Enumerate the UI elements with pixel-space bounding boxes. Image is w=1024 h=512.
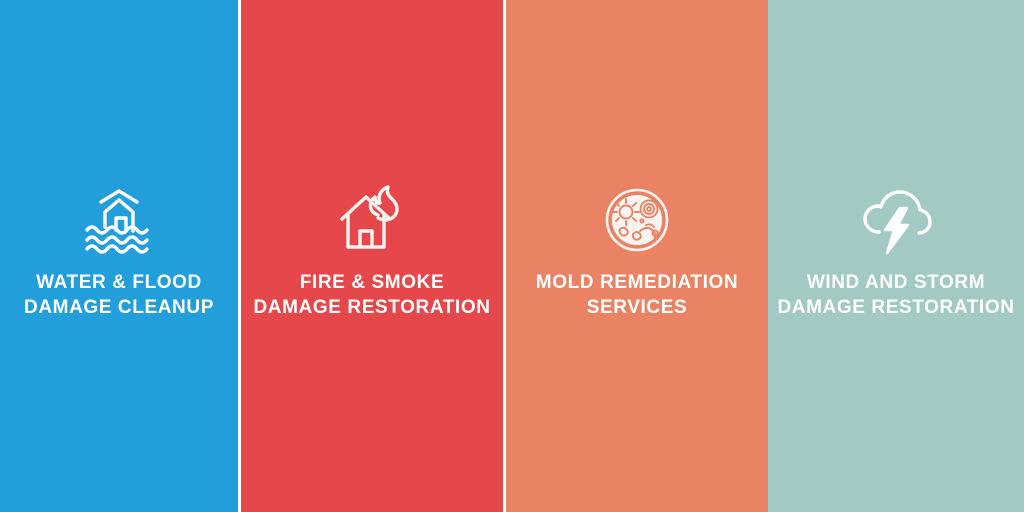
service-panel-wind-storm[interactable]: Wind and Storm Damage Restoration [768,0,1024,512]
petri-dish-mold-icon [602,182,672,258]
burning-house-icon [336,182,408,258]
panel-title-wind-storm: Wind and Storm Damage Restoration [768,270,1024,320]
panel-title-mold-remediation: Mold Remediation Services [506,270,768,320]
flooded-house-icon [81,182,157,258]
service-panel-water-flood[interactable]: Water & Flood Damage Cleanup [0,0,238,512]
service-panels-container: Water & Flood Damage Cleanup Fire & Smok… [0,0,1024,512]
service-panel-mold-remediation[interactable]: Mold Remediation Services [506,0,768,512]
panel-title-fire-smoke: Fire & Smoke Damage Restoration [241,270,503,320]
service-panel-fire-smoke[interactable]: Fire & Smoke Damage Restoration [241,0,503,512]
panel-title-water-flood: Water & Flood Damage Cleanup [0,270,238,320]
storm-cloud-lightning-icon [859,182,933,258]
